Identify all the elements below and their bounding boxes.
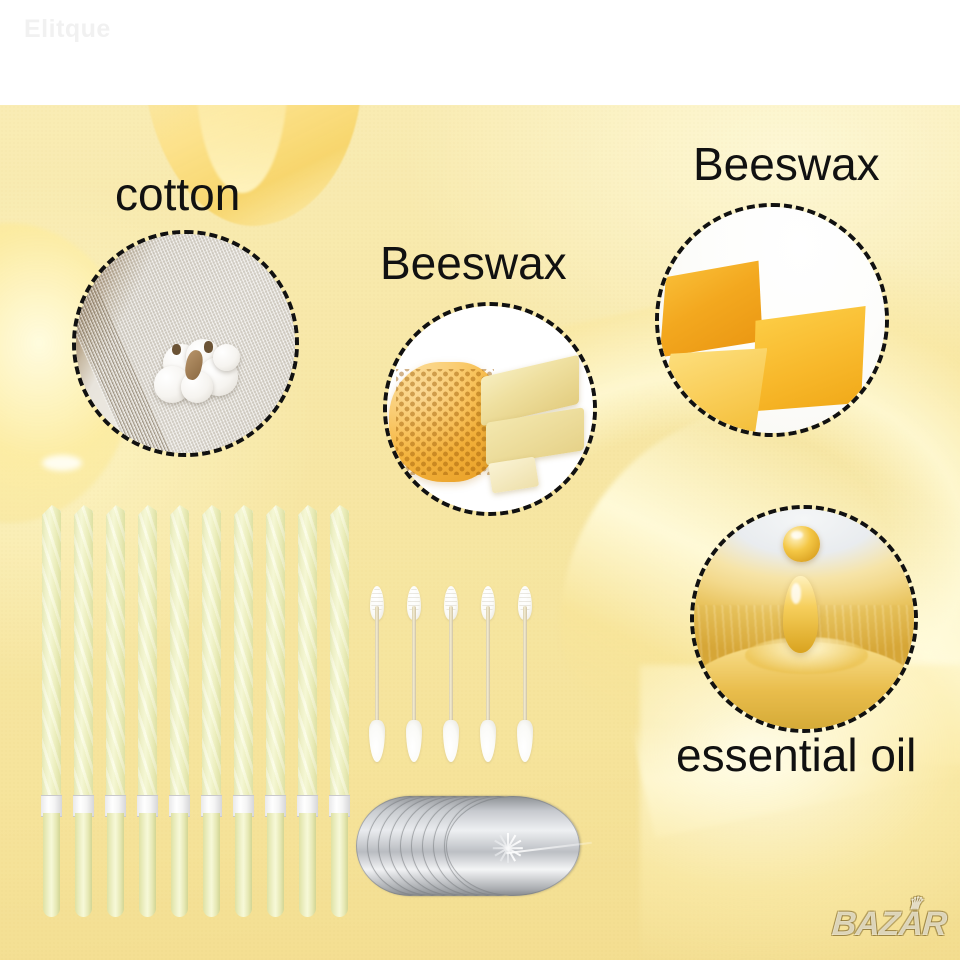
cotton-swab-item: [366, 586, 388, 762]
ear-candle-item: [138, 505, 157, 917]
candle-stem-icon: [75, 813, 92, 917]
honeycomb-cells-icon: [396, 369, 494, 474]
watermark-elitque: Elitque: [24, 15, 111, 44]
ingredient-label-beeswax-honeycomb: Beeswax: [380, 237, 567, 289]
candle-cone-icon: [330, 505, 349, 805]
candle-cone-icon: [106, 505, 125, 805]
ear-candle-item: [266, 505, 285, 917]
ear-candle-item: [106, 505, 125, 917]
candle-cone-icon: [42, 505, 61, 805]
candle-stem-icon: [139, 813, 156, 917]
ear-candle-item: [170, 505, 189, 917]
swab-tip-round-icon: [406, 720, 422, 762]
swab-tip-round-icon: [369, 720, 385, 762]
candle-stem-icon: [43, 813, 60, 917]
composition-infographic: cotton Beeswax Beeswax essential o: [0, 0, 960, 960]
candle-cone-icon: [234, 505, 253, 805]
candle-stem-icon: [299, 813, 316, 917]
candle-stem-icon: [267, 813, 284, 917]
candle-stem-icon: [107, 813, 124, 917]
beeswax-block-icon: [753, 306, 865, 411]
oil-droplet-icon: [783, 576, 817, 654]
candle-cone-icon: [138, 505, 157, 805]
crown-icon: ♛: [906, 894, 922, 914]
cotton-husk-icon: [172, 344, 181, 355]
cotton-swab-item: [440, 586, 462, 762]
candle-cone-icon: [266, 505, 285, 805]
cotton-husk-icon: [204, 341, 213, 352]
ingredient-circle-beeswax-blocks[interactable]: [655, 203, 889, 437]
cotton-photo: [72, 230, 299, 457]
cotton-swab-item: [477, 586, 499, 762]
ear-candle-item: [330, 505, 349, 917]
ear-candle-item: [234, 505, 253, 917]
product-cotton-swabs[interactable]: [366, 586, 538, 762]
product-ear-candles[interactable]: [42, 505, 348, 917]
candle-cone-icon: [202, 505, 221, 805]
ingredient-label-cotton: cotton: [115, 168, 240, 220]
swab-tip-round-icon: [480, 720, 496, 762]
essential-oil-photo: [690, 505, 918, 733]
beeswax-honeycomb-photo: [383, 302, 597, 516]
product-protection-discs[interactable]: [356, 796, 580, 896]
ingredient-circle-beeswax-honeycomb[interactable]: [383, 302, 597, 516]
ingredient-label-beeswax-blocks: Beeswax: [693, 138, 880, 190]
beeswax-blocks-photo: [655, 203, 889, 437]
watermark-bazar: ♛ BAZAR: [831, 905, 948, 944]
ear-candle-item: [74, 505, 93, 917]
candle-cone-icon: [298, 505, 317, 805]
candle-cone-icon: [74, 505, 93, 805]
ingredient-label-essential-oil: essential oil: [676, 729, 916, 781]
ear-candle-item: [298, 505, 317, 917]
ingredient-circle-essential-oil[interactable]: [690, 505, 918, 733]
oil-sphere-icon: [783, 526, 819, 562]
candle-stem-icon: [203, 813, 220, 917]
disc-star-cut-icon: [494, 834, 522, 862]
cotton-swab-item: [403, 586, 425, 762]
candle-stem-icon: [171, 813, 188, 917]
cotton-swab-item: [514, 586, 536, 762]
header-band: [0, 0, 960, 105]
swab-tip-round-icon: [517, 720, 533, 762]
ingredient-circle-cotton[interactable]: [72, 230, 299, 457]
candle-stem-icon: [235, 813, 252, 917]
cotton-boll-icon: [213, 344, 240, 371]
candle-cone-icon: [170, 505, 189, 805]
ear-candle-item: [202, 505, 221, 917]
wax-chip-icon: [488, 457, 539, 494]
beeswax-block-icon: [660, 254, 763, 357]
candle-stem-icon: [331, 813, 348, 917]
swab-tip-round-icon: [443, 720, 459, 762]
ear-candle-item: [42, 505, 61, 917]
beeswax-block-icon: [655, 348, 767, 437]
watermark-bazar-text: BAZAR: [831, 905, 948, 943]
